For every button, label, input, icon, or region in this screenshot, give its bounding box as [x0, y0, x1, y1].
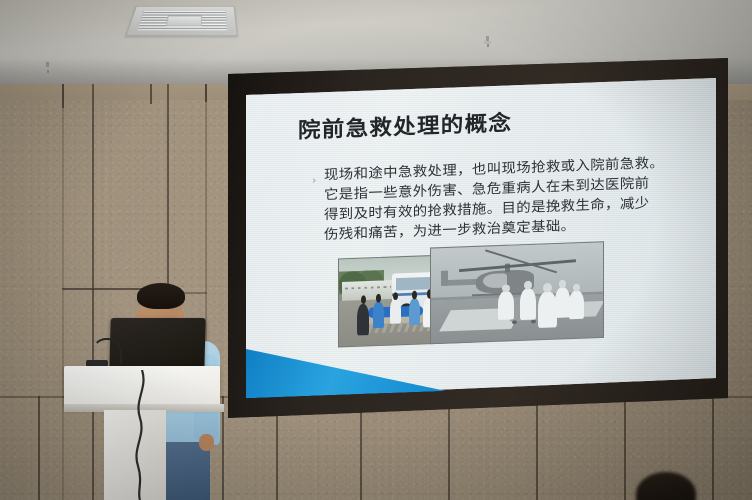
wall-seam: [536, 396, 538, 500]
slide-title: 院前急救处理的概念: [298, 106, 512, 144]
presenter-hair: [137, 283, 185, 309]
wall-seam: [624, 396, 626, 500]
wall-seam: [38, 396, 40, 500]
sprinkler-icon: [44, 62, 51, 73]
presenter-hand: [199, 434, 214, 451]
air-vent-icon: [125, 6, 237, 36]
wall-seam: [448, 396, 450, 500]
slide-accent-triangle: [246, 342, 446, 399]
helicopter-medevac-photo: [430, 241, 604, 344]
slide-content: 院前急救处理的概念 › 现场和途中急救处理，也叫现场抢救或入院前急救。 它是指一…: [246, 78, 716, 398]
slide-body-text: 现场和途中急救处理，也叫现场抢救或入院前急救。 它是指一些意外伤害、急危重病人在…: [324, 153, 684, 246]
power-cable: [126, 370, 166, 500]
presentation-photo-scene: 院前急救处理的概念 › 现场和途中急救处理，也叫现场抢救或入院前急救。 它是指一…: [0, 0, 752, 500]
presenter-trousers: [160, 442, 210, 500]
wall-seam: [712, 396, 714, 500]
laptop-screen: [109, 318, 205, 372]
sprinkler-icon: [484, 36, 491, 47]
bullet-chevron-icon: ›: [312, 174, 316, 186]
